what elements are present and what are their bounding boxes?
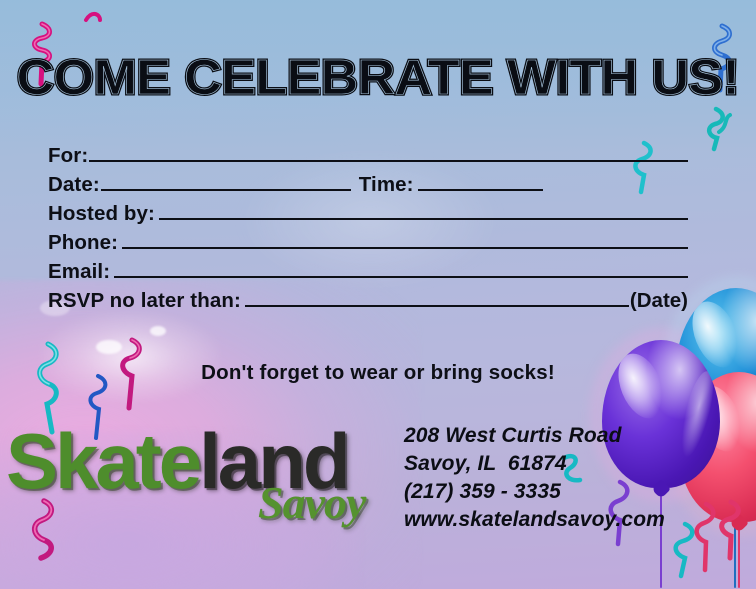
field-rule-phone[interactable] <box>122 232 688 249</box>
field-rule-time[interactable] <box>418 174 543 191</box>
field-label-rsvp: RSVP no later than: <box>48 289 241 313</box>
skateland-logo: Skateland Savoy <box>6 418 406 538</box>
field-rule-for[interactable] <box>89 145 688 162</box>
flyer-title: COME CELEBRATE WITH US! COME CELEBRATE W… <box>0 54 756 103</box>
field-label-email: Email: <box>48 260 110 284</box>
form-row-email: Email: <box>48 260 688 289</box>
field-rule-email[interactable] <box>114 261 688 278</box>
field-label-hosted-by: Hosted by: <box>48 202 155 226</box>
logo-word-savoy: Savoy <box>258 480 365 526</box>
field-rule-rsvp[interactable] <box>245 290 629 307</box>
form-row-phone: Phone: <box>48 231 688 260</box>
field-label-date: Date: <box>48 173 100 197</box>
field-label-phone: Phone: <box>48 231 118 255</box>
logo-word-skate: Skate <box>6 417 199 505</box>
address-city: Savoy, IL 61874 <box>404 450 665 478</box>
socks-note: Don't forget to wear or bring socks! <box>0 361 756 385</box>
form-row-rsvp: RSVP no later than: (Date) <box>48 289 688 318</box>
form-row-hosted-by: Hosted by: <box>48 202 688 231</box>
pink-streamer-dot-top-left <box>82 8 104 26</box>
pink-streamer-balloon-ribbon <box>690 500 724 574</box>
invitation-flyer: COME CELEBRATE WITH US! COME CELEBRATE W… <box>0 0 756 589</box>
invitation-form: For: Date: Time: Hosted by: Phone: Email… <box>48 144 688 318</box>
field-label-for: For: <box>48 144 88 168</box>
field-label-time: Time: <box>359 173 414 197</box>
sparkle <box>150 326 166 336</box>
field-rule-hosted-by[interactable] <box>159 203 688 220</box>
form-row-date-time: Date: Time: <box>48 173 688 202</box>
venue-address-block: 208 West Curtis Road Savoy, IL 61874 (21… <box>404 422 665 534</box>
address-street: 208 West Curtis Road <box>404 422 665 450</box>
field-hint-rsvp-date: (Date) <box>630 289 688 313</box>
address-website[interactable]: www.skatelandsavoy.com <box>404 506 665 534</box>
flyer-title-text: COME CELEBRATE WITH US! <box>17 51 740 105</box>
field-rule-date[interactable] <box>101 174 351 191</box>
teal-streamer-small-right <box>714 112 736 136</box>
form-row-for: For: <box>48 144 688 173</box>
address-phone: (217) 359 - 3335 <box>404 478 665 506</box>
